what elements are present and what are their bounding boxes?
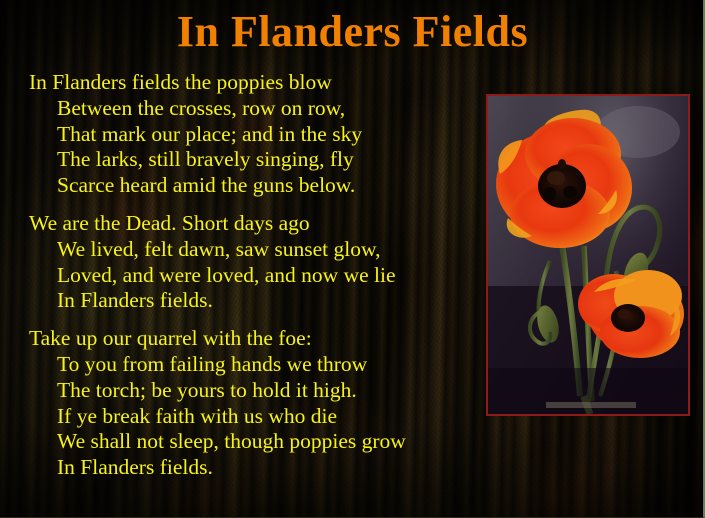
- poppies-photograph: [486, 94, 690, 416]
- poem-body: In Flanders fields the poppies blow Betw…: [29, 70, 479, 481]
- poppies-illustration: [488, 96, 688, 414]
- poem-stanza: In Flanders fields the poppies blow Betw…: [29, 70, 479, 199]
- poem-line: That mark our place; and in the sky: [29, 122, 479, 148]
- page-title: In Flanders Fields: [0, 6, 705, 58]
- poem-line: Take up our quarrel with the foe:: [29, 326, 479, 352]
- poem-stanza: We are the Dead. Short days ago We lived…: [29, 211, 479, 314]
- poem-line: Between the crosses, row on row,: [29, 96, 479, 122]
- slide-canvas: In Flanders Fields In Flanders fields th…: [0, 0, 705, 518]
- poem-line: The torch; be yours to hold it high.: [29, 378, 479, 404]
- poem-line: In Flanders fields.: [29, 455, 479, 481]
- poem-line: To you from failing hands we throw: [29, 352, 479, 378]
- poem-line: We shall not sleep, though poppies grow: [29, 429, 479, 455]
- poem-line: We lived, felt dawn, saw sunset glow,: [29, 237, 479, 263]
- poem-line: Scarce heard amid the guns below.: [29, 173, 479, 199]
- poem-line: In Flanders fields the poppies blow: [29, 70, 479, 96]
- poem-line: If ye break faith with us who die: [29, 404, 479, 430]
- poem-line: In Flanders fields.: [29, 288, 479, 314]
- poem-line: Loved, and were loved, and now we lie: [29, 263, 479, 289]
- poem-stanza: Take up our quarrel with the foe: To you…: [29, 326, 479, 481]
- poem-line: We are the Dead. Short days ago: [29, 211, 479, 237]
- poem-line: The larks, still bravely singing, fly: [29, 147, 479, 173]
